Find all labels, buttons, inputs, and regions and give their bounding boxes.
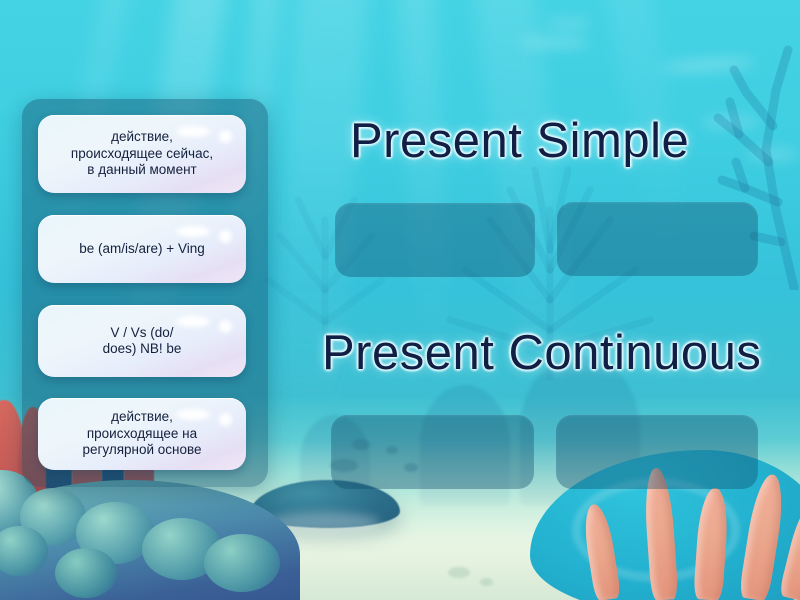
light-ray — [395, 0, 454, 360]
pebble — [448, 567, 470, 578]
card-gloss-icon — [219, 413, 232, 426]
card-gloss-icon — [219, 320, 232, 333]
drop-slot[interactable] — [557, 202, 758, 276]
card-label: V / Vs (do/ does) NB! be — [103, 325, 182, 358]
finger-coral — [738, 472, 787, 600]
finger-coral — [693, 487, 730, 600]
card-gloss-icon — [219, 230, 232, 243]
finger-coral — [778, 498, 800, 600]
drop-slot[interactable] — [556, 415, 758, 489]
draggable-card[interactable]: действие, происходящее сейчас, в данный … — [38, 115, 246, 193]
card-label: действие, происходящее сейчас, в данный … — [71, 129, 213, 178]
card-gloss-icon — [219, 130, 232, 143]
card-label: действие, происходящее на регулярной осн… — [82, 409, 201, 458]
seabed-shadow — [0, 540, 800, 600]
water-caustic — [745, 150, 800, 158]
group-title-present-simple: Present Simple — [350, 113, 689, 169]
draggable-card[interactable]: V / Vs (do/ does) NB! be — [38, 305, 246, 377]
water-caustic — [700, 118, 760, 126]
seabed-rock-highlight — [268, 512, 380, 534]
card-gloss-icon — [176, 226, 210, 237]
pebble — [480, 578, 493, 586]
group-title-present-continuous: Present Continuous — [322, 325, 761, 381]
drop-slot[interactable] — [335, 203, 535, 277]
draggable-card[interactable]: действие, происходящее на регулярной осн… — [38, 398, 246, 470]
water-caustic — [545, 20, 591, 27]
activity-stage: действие, происходящее сейчас, в данный … — [0, 0, 800, 600]
reef-rock-swirl — [572, 478, 740, 582]
finger-coral — [581, 503, 622, 600]
drop-slot[interactable] — [331, 415, 534, 489]
water-caustic — [520, 38, 590, 47]
card-label: be (am/is/are) + Ving — [79, 241, 204, 257]
draggable-card[interactable]: be (am/is/are) + Ving — [38, 215, 246, 283]
water-caustic — [660, 57, 755, 74]
